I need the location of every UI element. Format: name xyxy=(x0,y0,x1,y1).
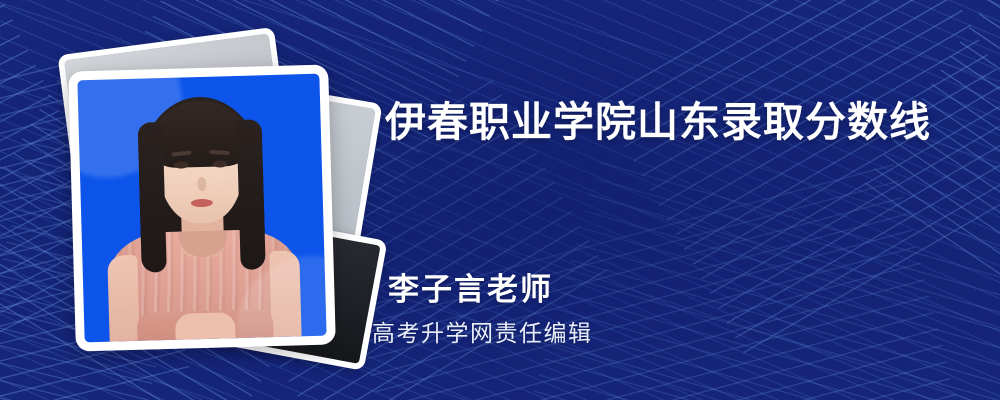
hair-strand-right xyxy=(237,119,266,270)
hair-strand-left xyxy=(138,122,167,273)
arm-right xyxy=(269,250,301,337)
author-role: 高考升学网责任编辑 xyxy=(372,320,593,348)
text-column: 伊春职业学院山东录取分数线 李子言老师 高考升学网责任编辑 xyxy=(385,0,985,400)
author-photo-card xyxy=(68,64,336,351)
portrait-illustration xyxy=(77,74,326,343)
author-photo xyxy=(77,74,326,343)
photo-stack xyxy=(52,38,352,368)
author-name: 李子言老师 xyxy=(388,271,553,308)
page-title: 伊春职业学院山东录取分数线 xyxy=(385,98,931,147)
hands xyxy=(175,312,236,340)
arm-left xyxy=(107,255,139,342)
banner-hero: 伊春职业学院山东录取分数线 李子言老师 高考升学网责任编辑 xyxy=(0,0,1000,400)
